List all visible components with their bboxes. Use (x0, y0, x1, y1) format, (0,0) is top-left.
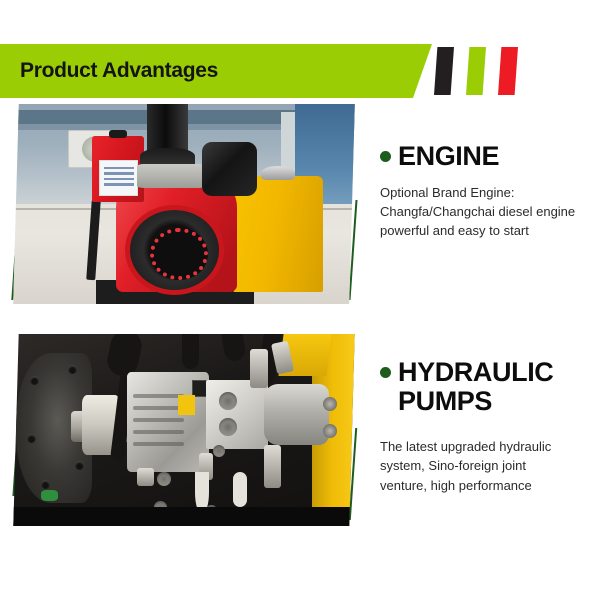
hydraulic-photo (13, 334, 354, 526)
engine-description-line: powerful and easy to start (380, 221, 594, 240)
feature-block-engine: ENGINE Optional Brand Engine: Changfa/Ch… (0, 104, 600, 304)
engine-description-line: Changfa/Changchai diesel engine (380, 202, 594, 221)
engine-heading: ENGINE (398, 142, 499, 171)
engine-red-topcap (92, 136, 144, 202)
hydraulic-heading-line: HYDRAULIC (398, 357, 553, 387)
engine-flywheel-fan (130, 210, 219, 290)
engine-photo (13, 104, 355, 304)
hydraulic-text-column: HYDRAULIC PUMPS The latest upgraded hydr… (380, 334, 594, 526)
bullet-icon (380, 367, 391, 378)
hydraulic-description-line: system, Sino-foreign joint (380, 456, 594, 475)
engine-air-cleaner (202, 142, 257, 196)
engine-photo-frame (13, 104, 355, 304)
decor-stripe-black (434, 47, 454, 95)
feature-block-hydraulic-pumps: HYDRAULIC PUMPS The latest upgraded hydr… (0, 334, 600, 526)
bullet-icon (380, 151, 391, 162)
hydraulic-description-line: The latest upgraded hydraulic (380, 437, 594, 456)
pump-yellow-sticker (178, 395, 195, 414)
engine-description-line: Optional Brand Engine: (380, 183, 594, 202)
hydraulic-heading: HYDRAULIC PUMPS (398, 358, 553, 415)
hydraulic-description-line: venture, high performance (380, 476, 594, 495)
hydraulic-valve-block (206, 380, 268, 449)
hydraulic-description: The latest upgraded hydraulic system, Si… (380, 415, 594, 495)
hydraulic-heading-line: PUMPS (398, 386, 492, 416)
hydraulic-photo-frame (13, 334, 354, 526)
decor-stripe-red (498, 47, 518, 95)
product-advantages-page: Product Advantages (0, 0, 600, 600)
gear-pump-cylinder (264, 384, 329, 445)
header-banner: Product Advantages (0, 44, 600, 98)
page-title: Product Advantages (20, 44, 218, 98)
engine-description: Optional Brand Engine: Changfa/Changchai… (380, 171, 594, 241)
decor-stripe-green (466, 47, 486, 95)
engine-text-column: ENGINE Optional Brand Engine: Changfa/Ch… (380, 104, 594, 304)
